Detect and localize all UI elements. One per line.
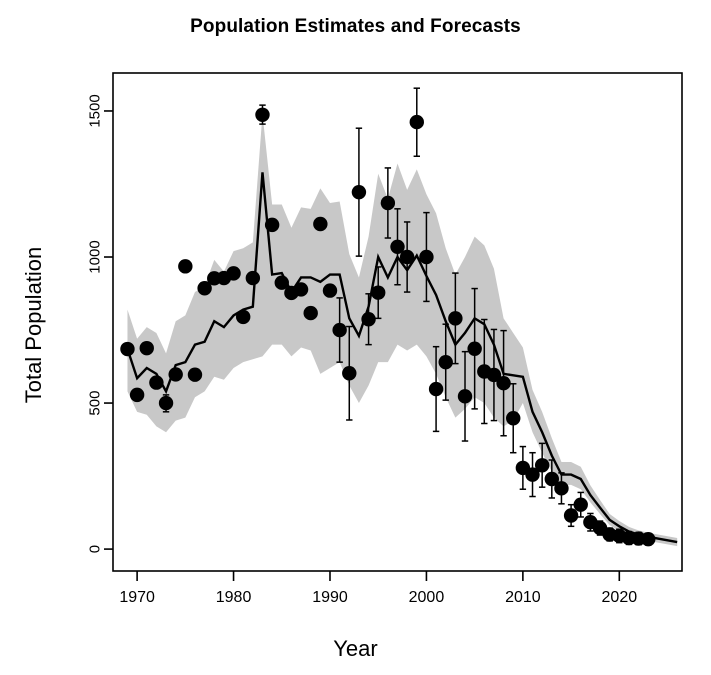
data-point: [332, 323, 346, 337]
data-point: [535, 458, 549, 472]
data-point: [304, 306, 318, 320]
data-point: [313, 217, 327, 231]
data-point: [149, 375, 163, 389]
data-point: [168, 367, 182, 381]
data-point: [506, 411, 520, 425]
y-tick-label: 1000: [87, 240, 104, 273]
data-point: [352, 185, 366, 199]
data-point: [371, 285, 385, 299]
x-tick-label: 1990: [312, 589, 348, 606]
data-point: [159, 396, 173, 410]
data-point: [188, 368, 202, 382]
data-point: [130, 388, 144, 402]
data-point: [467, 342, 481, 356]
data-point: [226, 266, 240, 280]
data-point: [255, 108, 269, 122]
x-axis-label: Year: [0, 636, 711, 662]
data-point: [178, 259, 192, 273]
x-tick-label: 2010: [505, 589, 541, 606]
data-point: [323, 283, 337, 297]
data-point: [429, 382, 443, 396]
data-point: [342, 366, 356, 380]
data-point: [120, 342, 134, 356]
data-point: [410, 115, 424, 129]
data-point: [294, 282, 308, 296]
data-point: [381, 196, 395, 210]
x-tick-label: 2020: [602, 589, 638, 606]
x-tick-label: 1980: [216, 589, 252, 606]
y-tick-label: 0: [87, 545, 104, 553]
chart-figure: Population Estimates and Forecasts 05001…: [0, 0, 711, 675]
data-point: [140, 341, 154, 355]
y-axis-label: Total Population: [21, 205, 47, 445]
data-point: [641, 532, 655, 546]
data-point: [400, 250, 414, 264]
data-point: [564, 508, 578, 522]
data-point: [574, 498, 588, 512]
data-point: [448, 311, 462, 325]
plot-area: 050010001500 197019801990200020102020: [0, 0, 711, 675]
y-tick-label: 1500: [87, 94, 104, 127]
data-point: [265, 218, 279, 232]
x-axis-ticks: 197019801990200020102020: [119, 571, 637, 606]
data-point: [439, 355, 453, 369]
x-tick-label: 1970: [119, 589, 155, 606]
data-point: [361, 312, 375, 326]
data-point: [496, 376, 510, 390]
data-point: [236, 310, 250, 324]
data-point: [419, 250, 433, 264]
y-tick-label: 500: [87, 391, 104, 416]
data-point: [554, 481, 568, 495]
data-point: [458, 389, 472, 403]
y-axis-ticks: 050010001500: [87, 94, 114, 553]
x-tick-label: 2000: [409, 589, 445, 606]
data-point: [246, 271, 260, 285]
